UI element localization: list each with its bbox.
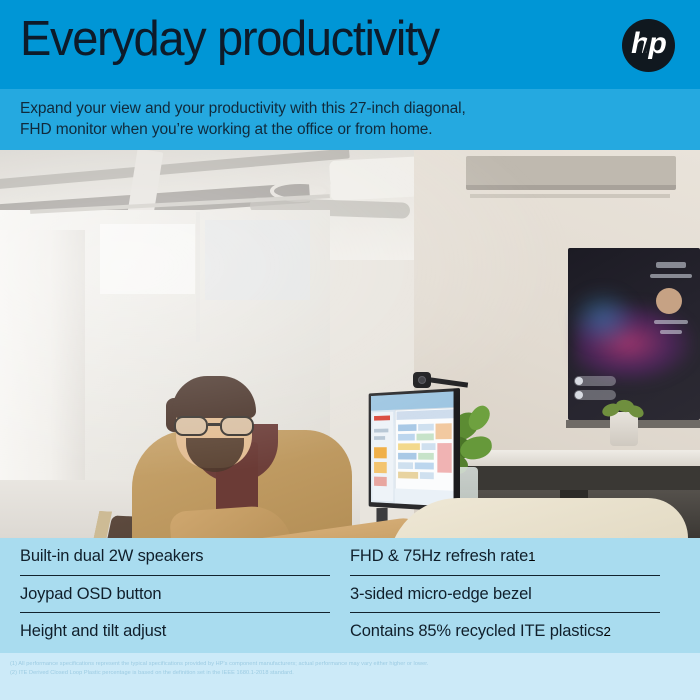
feature-column-left: Built-in dual 2W speakers Joypad OSD but… <box>20 538 330 649</box>
chair-frame <box>388 498 688 538</box>
subheading-line-2: FHD monitor when you’re working at the o… <box>20 119 466 140</box>
hp-logo-label: hp <box>622 19 675 72</box>
subheading-band: Expand your view and your productivity w… <box>0 89 700 150</box>
marketing-infographic: Everyday productivity hp Expand your vie… <box>0 0 700 700</box>
hp-logo: hp <box>622 19 675 72</box>
feature-footnote-marker: 2 <box>604 624 611 639</box>
feature-footnote-marker: 1 <box>528 549 535 564</box>
screen-accent <box>374 415 390 420</box>
office-chair-right <box>388 498 688 538</box>
video-call-text <box>656 262 686 268</box>
eyeglass-lens <box>174 416 208 436</box>
eyeglass-lens <box>220 416 254 436</box>
feature-label: Height and tilt adjust <box>20 622 166 641</box>
webcam <box>413 372 431 388</box>
screen-chip <box>374 462 387 473</box>
screen-cell <box>398 443 420 450</box>
footnote-panel: (1) All performance specifications repre… <box>0 653 700 700</box>
page-title: Everyday productivity <box>20 8 439 70</box>
screen-cell <box>422 443 436 450</box>
feature-row: 3-sided micro-edge bezel <box>350 575 660 612</box>
video-call-avatar <box>656 288 682 314</box>
eyeglasses <box>172 416 260 436</box>
screen-cell <box>418 453 434 460</box>
feature-column-right: FHD & 75Hz refresh rate1 3-sided micro-e… <box>350 538 660 649</box>
window-pane <box>100 224 195 294</box>
participant-avatar <box>575 391 583 399</box>
screen-cell <box>398 453 416 460</box>
video-call-participant <box>574 376 616 386</box>
feature-label: 3-sided micro-edge bezel <box>350 585 532 604</box>
screen-list-item <box>374 436 385 440</box>
subheading-line-1: Expand your view and your productivity w… <box>20 98 466 119</box>
wall-shelf <box>466 156 676 190</box>
feature-label: Built-in dual 2W speakers <box>20 547 203 566</box>
window-pane <box>205 220 310 300</box>
subheading-text: Expand your view and your productivity w… <box>20 98 466 140</box>
header-band: Everyday productivity hp <box>0 0 700 89</box>
screen-cell <box>437 443 451 473</box>
monitor-bezel <box>454 388 460 512</box>
screen-cell <box>418 424 434 431</box>
feature-row: Height and tilt adjust <box>20 612 330 649</box>
screen-cell <box>420 472 434 479</box>
video-call-text <box>660 330 682 334</box>
screen-cell <box>436 423 452 439</box>
monitor-body <box>369 388 460 512</box>
feature-label: Contains 85% recycled ITE plastics <box>350 622 604 641</box>
screen-cell <box>416 433 433 440</box>
screen-cell <box>398 424 416 431</box>
feature-label: FHD & 75Hz refresh rate <box>350 547 528 566</box>
succulent-plant <box>600 398 646 424</box>
feature-label: Joypad OSD button <box>20 585 161 604</box>
feature-panel: Built-in dual 2W speakers Joypad OSD but… <box>0 538 700 653</box>
video-call-text <box>650 274 692 278</box>
screen-window-header <box>396 409 453 420</box>
screen-cell <box>415 462 434 469</box>
footnote-2: (2) ITE Derived Closed Loop Plastic perc… <box>10 670 294 677</box>
hero-photo <box>0 150 700 538</box>
shirt-sleeve <box>169 504 295 538</box>
eyeglass-bridge <box>208 423 220 426</box>
feature-row: Joypad OSD button <box>20 575 330 612</box>
feature-row: FHD & 75Hz refresh rate1 <box>350 538 660 575</box>
participant-avatar <box>575 377 583 385</box>
screen-list-item <box>374 429 388 433</box>
screen-cell <box>398 434 415 441</box>
footnote-1: (1) All performance specifications repre… <box>10 661 428 668</box>
feature-row: Built-in dual 2W speakers <box>20 538 330 575</box>
secondary-monitor <box>568 248 700 420</box>
screen-cell <box>398 462 413 469</box>
window-mullion <box>196 212 200 342</box>
monitor-screen <box>371 391 454 506</box>
screen-chip <box>374 477 387 487</box>
wall-shelf-edge <box>470 194 670 198</box>
screen-cell <box>398 472 418 479</box>
video-call-text <box>654 320 688 324</box>
plant-pot <box>610 412 638 446</box>
feature-row: Contains 85% recycled ITE plastics2 <box>350 612 660 649</box>
webcam-lens-icon <box>418 376 426 384</box>
video-call-glow <box>568 288 638 348</box>
screen-chip <box>374 447 387 458</box>
